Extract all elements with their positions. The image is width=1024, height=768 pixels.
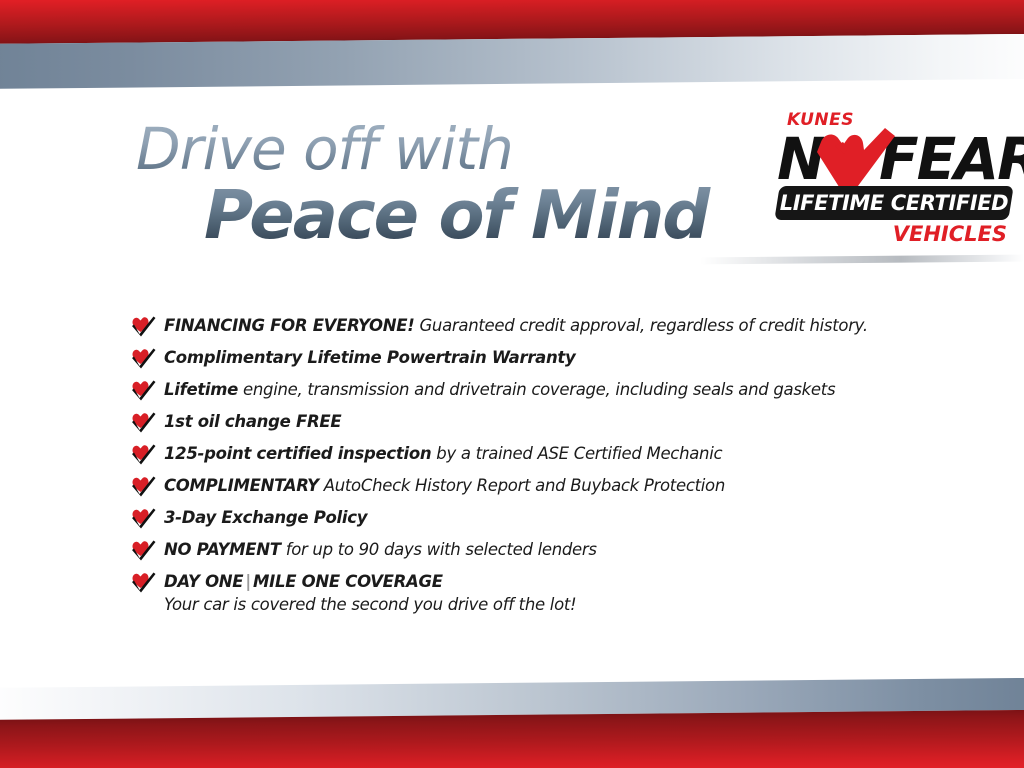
list-item-lead: FINANCING FOR EVERYONE! bbox=[164, 316, 415, 335]
list-item-lead: NO PAYMENT bbox=[164, 540, 281, 559]
heart-check-bullet-icon bbox=[131, 507, 156, 529]
list-item-text: DAY ONE|MILE ONE COVERAGE bbox=[164, 572, 443, 592]
list-item: COMPLIMENTARY AutoCheck History Report a… bbox=[131, 470, 921, 502]
list-item: Lifetime engine, transmission and drivet… bbox=[131, 374, 921, 406]
heart-check-bullet-icon bbox=[131, 347, 156, 369]
list-item-lead: 3-Day Exchange Policy bbox=[164, 508, 367, 527]
list-item-rest: AutoCheck History Report and Buyback Pro… bbox=[319, 476, 725, 495]
heart-check-bullet-icon bbox=[131, 379, 156, 401]
list-item: 125-point certified inspection by a trai… bbox=[131, 438, 921, 470]
logo-certified-text: LIFETIME CERTIFIED bbox=[777, 186, 1011, 220]
list-item: FINANCING FOR EVERYONE! Guaranteed credi… bbox=[131, 310, 921, 342]
list-item-lead: 125-point certified inspection bbox=[164, 444, 431, 463]
list-item-lead: Complimentary Lifetime Powertrain Warran… bbox=[164, 348, 575, 367]
headline-line-1: Drive off with bbox=[136, 120, 756, 178]
list-item-lead-2: MILE ONE COVERAGE bbox=[253, 572, 443, 591]
list-item-subtext: Your car is covered the second you drive… bbox=[131, 594, 921, 616]
heart-check-icon bbox=[811, 126, 897, 192]
bottom-decorative-band bbox=[0, 678, 1024, 768]
kunes-no-fear-logo: KUNES N FEAR LIFETIME CERTIFIED VEHICLES bbox=[775, 110, 1013, 245]
heart-check-bullet-icon bbox=[131, 315, 156, 337]
top-gray-bar bbox=[0, 34, 1024, 89]
heart-check-bullet-icon bbox=[131, 571, 156, 593]
list-item-lead: Lifetime bbox=[164, 380, 238, 399]
advertisement-page: Drive off with Peace of Mind KUNES N FEA… bbox=[0, 0, 1024, 768]
top-decorative-band bbox=[0, 0, 1024, 92]
list-item: 1st oil change FREE bbox=[131, 406, 921, 438]
list-item-lead: 1st oil change FREE bbox=[164, 412, 341, 431]
logo-word-fear: FEAR bbox=[879, 130, 1024, 188]
list-item-lead: DAY ONE bbox=[164, 572, 243, 591]
benefits-list: FINANCING FOR EVERYONE! Guaranteed credi… bbox=[131, 310, 921, 616]
list-item-text: 125-point certified inspection by a trai… bbox=[164, 444, 722, 464]
list-item: 3-Day Exchange Policy bbox=[131, 502, 921, 534]
heart-check-bullet-icon bbox=[131, 443, 156, 465]
list-item-text: 1st oil change FREE bbox=[164, 412, 341, 432]
heart-check-bullet-icon bbox=[131, 539, 156, 561]
list-item-text: Complimentary Lifetime Powertrain Warran… bbox=[164, 348, 575, 368]
heart-check-bullet-icon bbox=[131, 475, 156, 497]
list-item-text: FINANCING FOR EVERYONE! Guaranteed credi… bbox=[164, 316, 868, 336]
list-item-separator: | bbox=[243, 572, 253, 591]
list-item-lead: COMPLIMENTARY bbox=[164, 476, 319, 495]
list-item-rest: for up to 90 days with selected lenders bbox=[281, 540, 597, 559]
bottom-red-bar bbox=[0, 710, 1024, 768]
list-item-text: 3-Day Exchange Policy bbox=[164, 508, 367, 528]
headline-block: Drive off with Peace of Mind bbox=[136, 120, 756, 249]
list-item-rest: engine, transmission and drivetrain cove… bbox=[238, 380, 835, 399]
list-item-rest: by a trained ASE Certified Mechanic bbox=[431, 444, 722, 463]
list-item-text: Lifetime engine, transmission and drivet… bbox=[164, 380, 835, 400]
heart-check-bullet-icon bbox=[131, 411, 156, 433]
list-item-text: COMPLIMENTARY AutoCheck History Report a… bbox=[164, 476, 725, 496]
headline-line-2: Peace of Mind bbox=[204, 182, 756, 249]
list-item-text: NO PAYMENT for up to 90 days with select… bbox=[164, 540, 597, 560]
list-item: Complimentary Lifetime Powertrain Warran… bbox=[131, 342, 921, 374]
headline-divider bbox=[700, 255, 1024, 265]
list-item: NO PAYMENT for up to 90 days with select… bbox=[131, 534, 921, 566]
logo-vehicles-text: VEHICLES bbox=[893, 222, 1007, 246]
list-item-rest: Guaranteed credit approval, regardless o… bbox=[415, 316, 868, 335]
logo-no-fear-wordmark: N FEAR bbox=[775, 128, 1013, 190]
